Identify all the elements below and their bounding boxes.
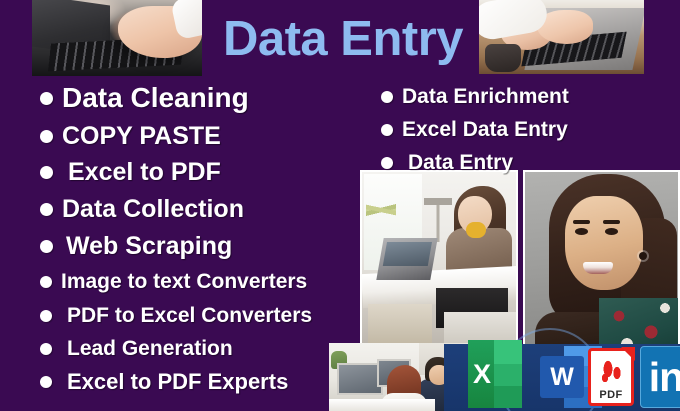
list-item: PDF to Excel Converters	[40, 301, 380, 331]
service-label: Data Entry	[402, 151, 513, 175]
hands-typing-keyboard-photo	[32, 0, 202, 76]
excel-sheet-mid	[494, 364, 522, 386]
list-item: Data Cleaning	[40, 80, 380, 116]
bullet-icon	[40, 166, 53, 179]
service-label: Data Collection	[62, 195, 244, 224]
list-item: Data Collection	[40, 193, 380, 226]
portrait-face-shape	[565, 196, 643, 290]
linkedin-glyph: in	[640, 346, 680, 408]
bullet-icon	[381, 157, 393, 169]
service-label: PDF to Excel Converters	[61, 304, 312, 328]
excel-icon: X	[468, 340, 522, 408]
bullet-icon	[40, 310, 52, 322]
word-glyph: W	[540, 356, 584, 398]
hands-laptop-coffee-photo	[479, 0, 644, 74]
service-label: Excel to PDF	[62, 158, 221, 187]
bullet-icon	[40, 276, 52, 288]
bullet-icon	[381, 91, 393, 103]
bullet-icon	[40, 130, 53, 143]
service-label: Excel to PDF Experts	[61, 369, 288, 395]
list-item: COPY PASTE	[40, 120, 380, 152]
service-label: Image to text Converters	[61, 270, 307, 294]
list-item: Image to text Converters	[40, 267, 380, 297]
list-item: Excel to PDF Experts	[40, 367, 380, 397]
service-label: Web Scraping	[62, 232, 232, 261]
service-label: Data Cleaning	[62, 82, 249, 114]
service-label: Excel Data Entry	[402, 118, 568, 142]
laptop-shape	[376, 238, 437, 280]
scarf-shape	[466, 222, 486, 238]
excel-glyph: X	[470, 358, 494, 390]
bullet-icon	[40, 343, 52, 355]
bullet-icon	[40, 376, 52, 388]
list-item: Lead Generation	[40, 335, 380, 363]
bullet-icon	[40, 203, 53, 216]
data-entry-service-banner: Data Entry Data Cleaning COPY PASTE Exce…	[0, 0, 680, 411]
excel-sheet-bottom	[494, 386, 522, 408]
woman-at-desk-photo	[360, 170, 518, 353]
list-item: Web Scraping	[40, 230, 380, 263]
list-item: Excel Data Entry	[381, 115, 671, 145]
woman-portrait-photo	[523, 170, 680, 353]
coffee-cup-shape	[485, 44, 521, 72]
page-title: Data Entry	[198, 8, 488, 70]
portrait-smile-shape	[583, 262, 613, 274]
linkedin-icon: in	[640, 346, 680, 408]
pdf-icon: PDF	[588, 348, 634, 406]
excel-sheet-top	[494, 340, 522, 364]
right-service-list: Data Enrichment Excel Data Entry Data En…	[381, 82, 671, 181]
portrait-earring-shape	[639, 252, 647, 260]
service-label: Lead Generation	[61, 337, 233, 361]
left-service-list: Data Cleaning COPY PASTE Excel to PDF Da…	[40, 80, 380, 401]
bullet-icon	[381, 124, 393, 136]
list-item: Data Enrichment	[381, 82, 671, 112]
pdf-label: PDF	[588, 389, 634, 401]
bullet-icon	[40, 92, 53, 105]
list-item: Excel to PDF	[40, 156, 380, 189]
service-label: Data Enrichment	[402, 85, 569, 109]
pdf-acrobat-swirl	[599, 357, 623, 382]
portrait-right-eye-shape	[605, 228, 618, 235]
software-icon-bar: X W PDF in	[444, 344, 680, 411]
pdf-corner-fold	[621, 347, 635, 361]
list-item: Data Entry	[381, 148, 671, 178]
bullet-icon	[40, 240, 53, 253]
portrait-left-brow-shape	[573, 220, 590, 224]
portrait-right-brow-shape	[603, 220, 620, 224]
portrait-left-eye-shape	[575, 228, 588, 235]
service-label: COPY PASTE	[62, 122, 221, 151]
